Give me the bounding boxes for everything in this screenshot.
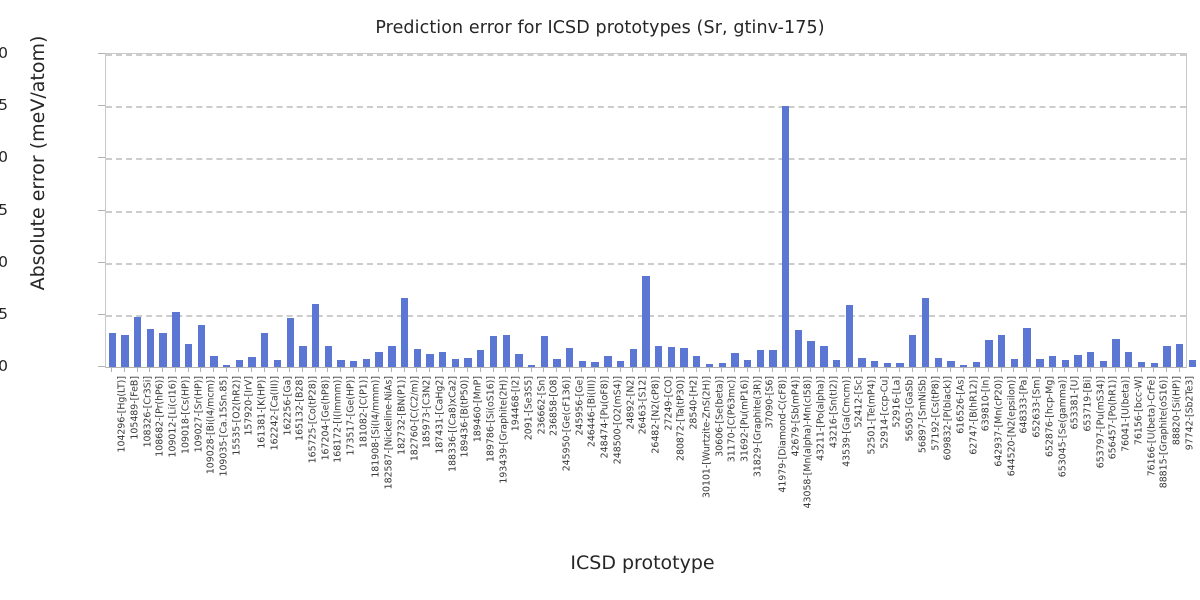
- y-tick-label: 12.5: [0, 96, 8, 114]
- x-tick-label: 189786-[Si(oS16)]: [485, 376, 496, 462]
- x-tick-label: 173517-[Ge(HP)]: [346, 376, 357, 456]
- y-tick-label: 10.0: [0, 148, 8, 166]
- x-tick-label: 56503-[GaSb]: [905, 376, 916, 441]
- x-tick-label: 76156-[bcc-W]: [1133, 376, 1144, 445]
- x-tick-label: 26482-[N2(cP8)]: [651, 376, 662, 454]
- x-tick-label: 168172-[I(Immm)]: [333, 376, 344, 463]
- y-tick-mark: [98, 157, 105, 158]
- y-tick-label: 0.0: [0, 357, 8, 375]
- x-tick-label: 30606-[Se(beta)]: [714, 376, 725, 457]
- x-tick-label: 161381-[K(HP)]: [257, 376, 268, 449]
- x-tick-label: 162242-[Ca(III)]: [269, 376, 280, 450]
- x-tick-label: 616526-[As]: [955, 376, 966, 434]
- x-tick-label: 26463-[S12]: [638, 376, 649, 434]
- y-tick-label: 2.5: [0, 305, 8, 323]
- x-tick-label: 187431-[CaHg2]: [435, 376, 446, 454]
- y-tick-label: 15.0: [0, 44, 8, 62]
- x-tick-label: 52412-[Sc]: [854, 376, 865, 428]
- y-tick-mark: [98, 210, 105, 211]
- chart-figure: Prediction error for ICSD prototypes (Sr…: [0, 0, 1200, 600]
- x-tick-label: 43216-[Sn(tI2)]: [828, 376, 839, 448]
- x-tick-label: 43058-[Mn(alpha)-Mn(cI58)]: [803, 376, 814, 508]
- x-tick-label: 109027-[Sr(HP)]: [193, 376, 204, 452]
- x-tick-label: 236662-[Sn]: [536, 376, 547, 434]
- x-tick-label: 28540-[H2]: [689, 376, 700, 430]
- x-tick-label: 27249-[CO]: [663, 376, 674, 430]
- x-tick-label: 236858-[O8]: [549, 376, 560, 436]
- x-tick-label: 15535-[O2(hR2)]: [231, 376, 242, 456]
- y-tick-mark: [98, 53, 105, 54]
- x-tick-label: 189460-[MnP]: [473, 376, 484, 442]
- x-tick-label: 30101-[Wurtzite-ZnS(2H)]: [701, 376, 712, 498]
- x-tick-label: 41979-[Diamond-C(cF8)]: [778, 376, 789, 493]
- x-tick-label: 56897-[SmNiSb]: [917, 376, 928, 453]
- x-tick-label: 31170-[C(P63mc)]: [727, 376, 738, 462]
- x-tick-label: 248474-[Pu(oF8)]: [600, 376, 611, 458]
- x-tick-label: 246446-[Bi(III)]: [587, 376, 598, 447]
- x-tick-label: 109028-[Bi(I4/mcm)]: [206, 376, 217, 474]
- y-tick-mark: [98, 314, 105, 315]
- chart-title: Prediction error for ICSD prototypes (Sr…: [0, 18, 1200, 38]
- x-tick-label: 653381-[U]: [1070, 376, 1081, 429]
- x-tick-label: 105489-[FeB]: [130, 376, 141, 440]
- x-tick-label: 42679-[Sb(mP4)]: [790, 376, 801, 457]
- x-tick-label: 97742-[Sb2Te3]: [1184, 376, 1195, 450]
- x-tick-label: 652633-[Sm]: [1032, 376, 1043, 438]
- x-tick-label: 43539-[Ga(Cmcm)]: [841, 376, 852, 467]
- x-tick-label: 642937-[Mn(cP20)]: [994, 376, 1005, 467]
- x-tick-label: 167204-[Ge(hP8)]: [320, 376, 331, 460]
- x-tick-label: 644520-[N2(epsilon)]: [1006, 376, 1017, 476]
- x-tick-label: 108682-[Pr(hP6)]: [155, 376, 166, 457]
- x-tick-label: 109018-[Cs(HP)]: [180, 376, 191, 454]
- x-tick-label: 43211-[Po(alpha)]: [816, 376, 827, 461]
- x-tick-label: 280872-[Ta(tP30)]: [676, 376, 687, 461]
- x-tick-label: 76166-[U(beta)-CrFe]: [1146, 376, 1157, 476]
- x-tick-label: 182587-[Nickeline-NiAs]: [384, 376, 395, 489]
- x-tick-label: 656457-[Po(hR1)]: [1108, 376, 1119, 459]
- x-tick-label: 2091-[Se3S5]: [523, 376, 534, 440]
- x-tick-label: 109035-[Ca.15Sn.85]: [219, 376, 230, 477]
- x-tick-label: 165725-[Co(tP28)]: [307, 376, 318, 463]
- x-tick-label: 76041-[U(beta)]: [1121, 376, 1132, 452]
- x-tick-label: 653045-[Se(gamma)]: [1057, 376, 1068, 477]
- x-tick-label: 88820-[Si(HP)]: [1171, 376, 1182, 445]
- x-tick-label: 108326-[Cr3Si]: [142, 376, 153, 447]
- x-tick-label: 31692-[Pu(mP16)]: [739, 376, 750, 462]
- x-tick-label: 52501-[Te(mP4)]: [867, 376, 878, 455]
- y-tick-mark: [98, 262, 105, 263]
- x-tick-label: 245950-[Ge(cF136)]: [562, 376, 573, 471]
- x-axis-ticks: 104296-[Hg(LT)]105489-[FeB]108326-[Cr3Si…: [105, 368, 1187, 558]
- x-tick-label: 52916-[La]: [892, 376, 903, 428]
- x-tick-label: 181908-[Si(I4/mmm)]: [371, 376, 382, 478]
- x-tick-label: 639810-[In]: [981, 376, 992, 431]
- x-tick-label: 31829-[Graphite(3R)]: [752, 376, 763, 477]
- x-tick-label: 248500-[O2(mS4)]: [612, 376, 623, 464]
- x-tick-label: 609832-[P(black)]: [943, 376, 954, 460]
- x-tick-label: 157920-[IrV]: [244, 376, 255, 436]
- x-tick-label: 37090-[S6]: [765, 376, 776, 428]
- y-axis-label: Absolute error (meV/atom): [27, 0, 49, 333]
- x-tick-label: 104296-[Hg(LT)]: [117, 376, 128, 452]
- x-tick-label: 653797-[Pu(mS34)]: [1095, 376, 1106, 468]
- x-tick-label: 185973-[C3N2]: [422, 376, 433, 448]
- x-tick-label: 182732-[BN(P1)]: [396, 376, 407, 455]
- x-tick-label: 653719-[Bi]: [1083, 376, 1094, 432]
- x-tick-label: 245956-[Ge]: [574, 376, 585, 436]
- x-tick-label: 182760-[C(C2/m)]: [409, 376, 420, 461]
- x-tick-label: 165132-[B28]: [295, 376, 306, 441]
- x-tick-label: 181082-[C(P1)]: [358, 376, 369, 448]
- y-tick-label: 5.0: [0, 253, 8, 271]
- x-tick-label: 648333-[Pa]: [1019, 376, 1030, 433]
- x-tick-label: 193439-[Graphite(2H)]: [498, 376, 509, 484]
- x-tick-label: 62747-[B(hR12)]: [968, 376, 979, 455]
- x-tick-label: 109012-[Li(cI16)]: [168, 376, 179, 457]
- x-tick-label: 57192-[Cs(tP8)]: [930, 376, 941, 451]
- x-tick-label: 162256-[Ga]: [282, 376, 293, 436]
- x-tick-label: 652876-[hcp-Mg]: [1044, 376, 1055, 457]
- x-tick-label: 88815-[Graphite(oS16)]: [1159, 376, 1170, 488]
- x-tick-label: 194468-[I2]: [511, 376, 522, 431]
- x-tick-label: 24892-[N2]: [625, 376, 636, 430]
- x-tick-label: 52914-[ccp-Cu]: [879, 376, 890, 449]
- y-tick-label: 7.5: [0, 201, 8, 219]
- x-axis-label: ICSD prototype: [100, 552, 1185, 574]
- y-tick-mark: [98, 366, 105, 367]
- y-tick-mark: [98, 105, 105, 106]
- x-tick-label: 189436-[B(tP50)]: [460, 376, 471, 458]
- x-tick-label: 188336-[(Ca8)xCa2]: [447, 376, 458, 472]
